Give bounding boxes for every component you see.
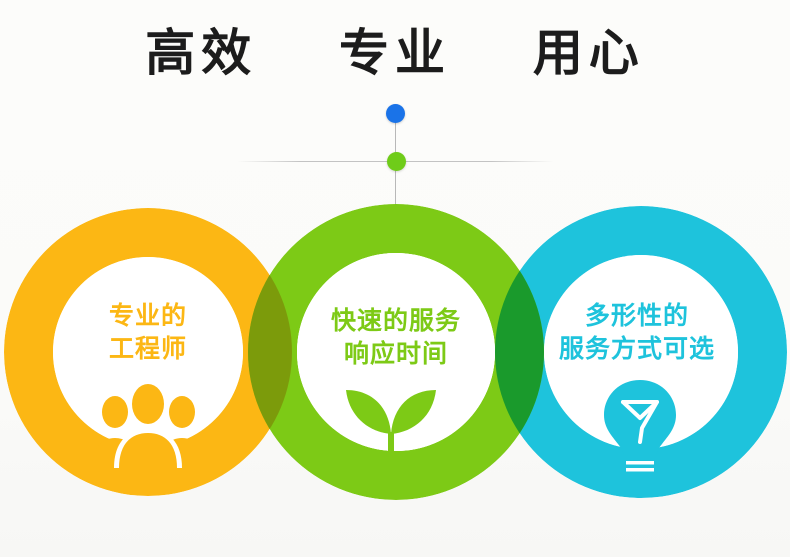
circle-label-service-modes: 多形性的 服务方式可选 (524, 300, 750, 366)
poster-canvas: 高效 专业 用心 (0, 0, 790, 557)
circle-label-engineers: 专业的 工程师 (48, 300, 248, 366)
circle-2-line-2: 响应时间 (288, 338, 504, 371)
circle-2-line-1: 快速的服务 (288, 305, 504, 338)
circle-1-line-2: 工程师 (48, 333, 248, 366)
people-icon (88, 382, 208, 468)
circle-1-line-1: 专业的 (48, 300, 248, 333)
circle-3-line-1: 多形性的 (524, 300, 750, 333)
sprout-icon (328, 382, 454, 478)
lightbulb-icon (597, 378, 683, 474)
circle-3-line-2: 服务方式可选 (524, 333, 750, 366)
circle-label-response: 快速的服务 响应时间 (288, 305, 504, 371)
